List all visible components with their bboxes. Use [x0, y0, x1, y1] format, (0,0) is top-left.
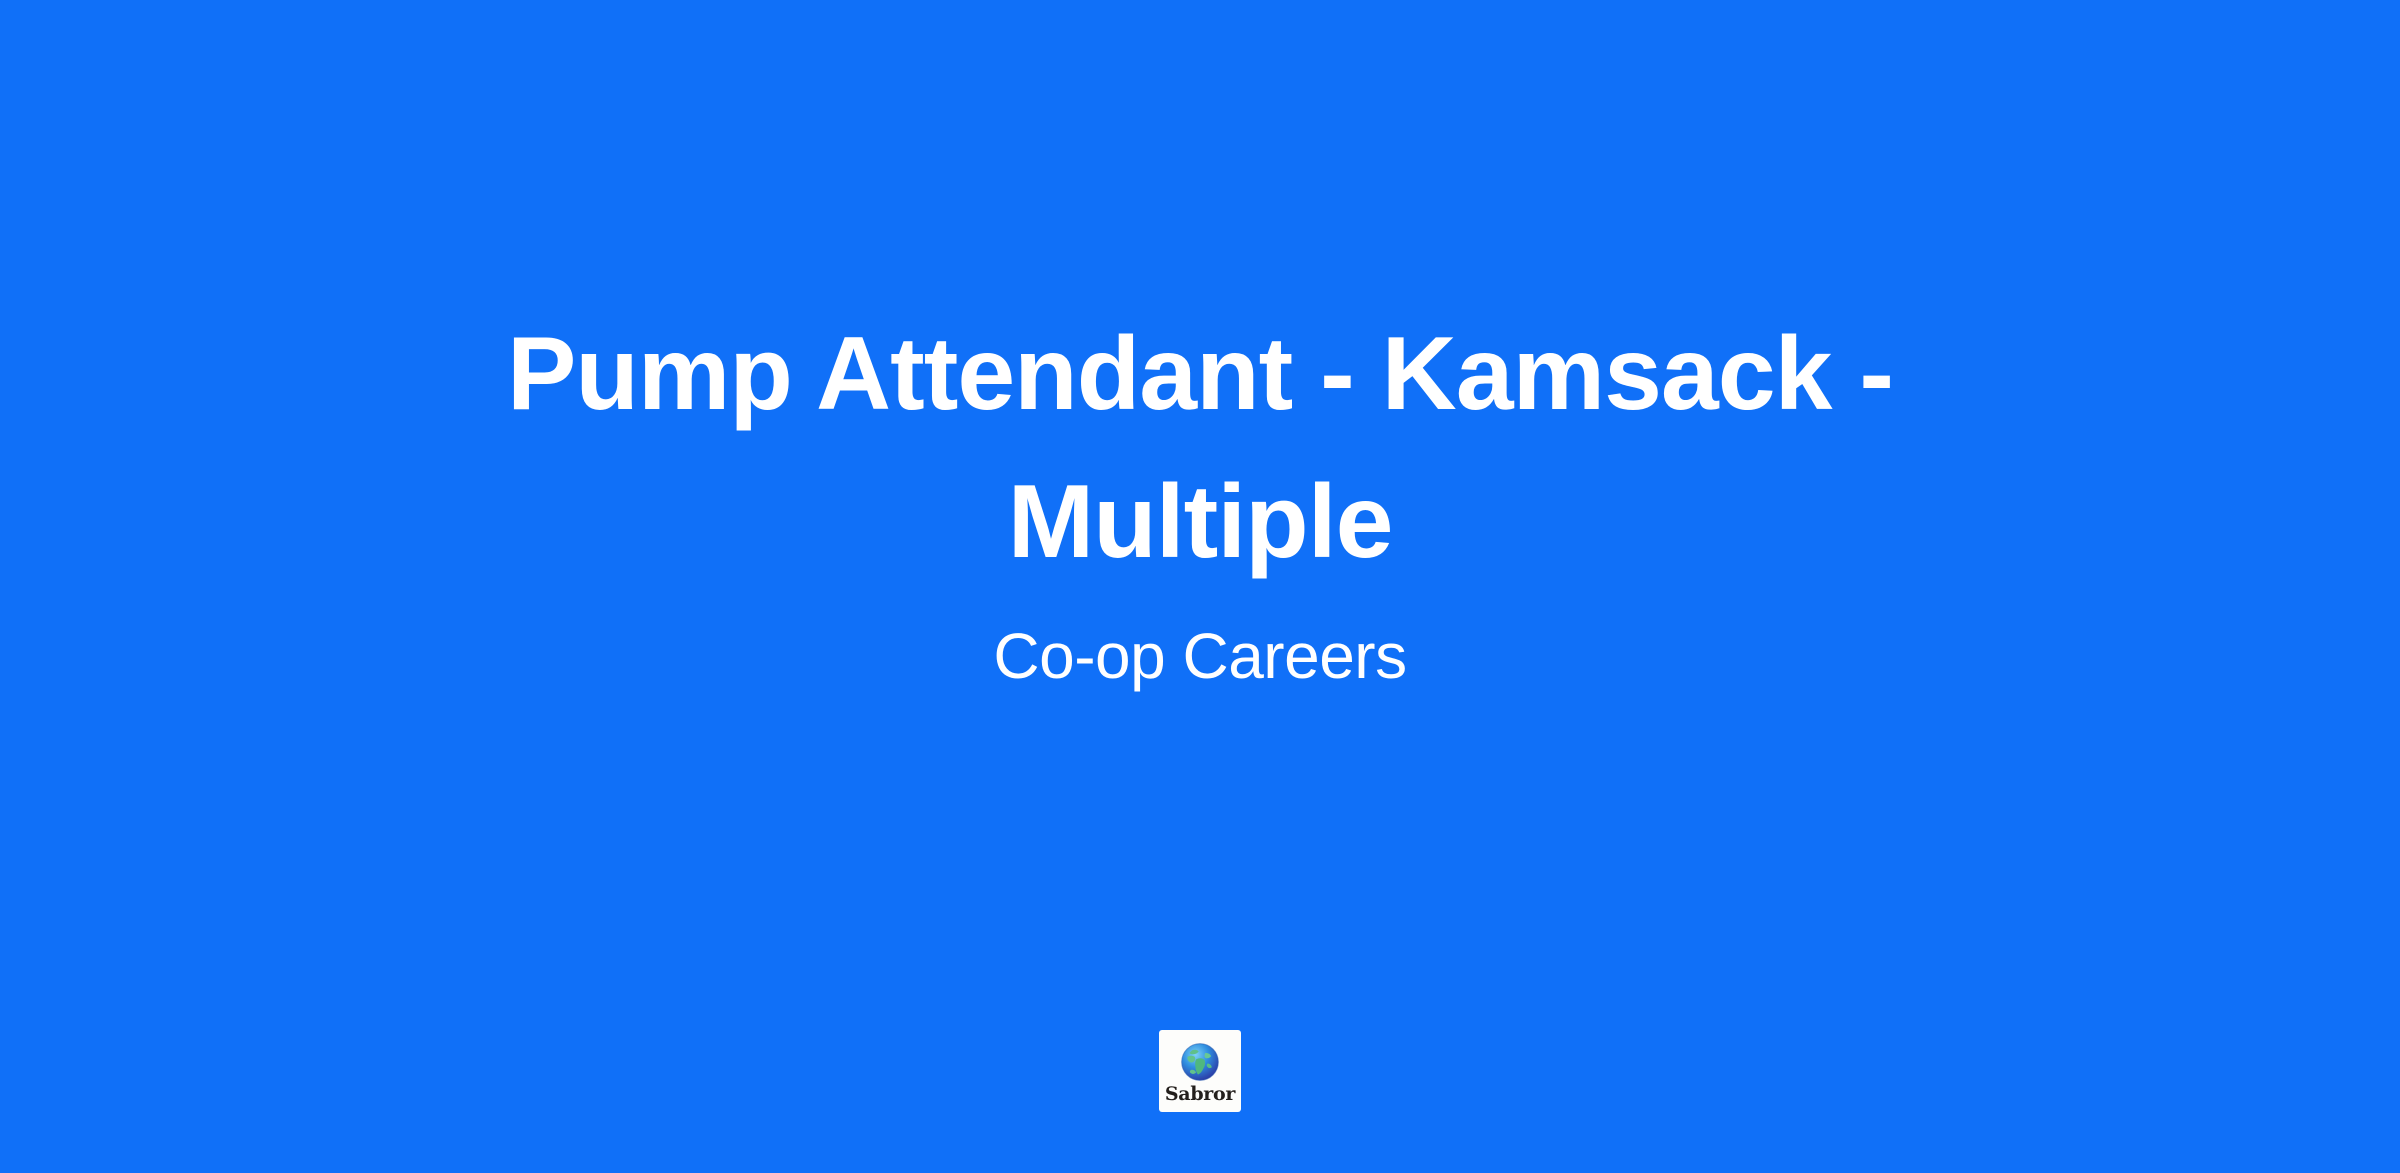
page-subtitle: Co-op Careers [993, 618, 1406, 694]
page-title: Pump Attendant - Kamsack - Multiple [380, 300, 2020, 596]
hero-text-block: Pump Attendant - Kamsack - Multiple Co-o… [0, 300, 2400, 694]
globe-icon [1179, 1041, 1221, 1083]
brand-wordmark: Sabror [1165, 1084, 1235, 1105]
social-share-card: Pump Attendant - Kamsack - Multiple Co-o… [0, 0, 2400, 1173]
brand-logo: Sabror [1159, 1030, 1241, 1112]
